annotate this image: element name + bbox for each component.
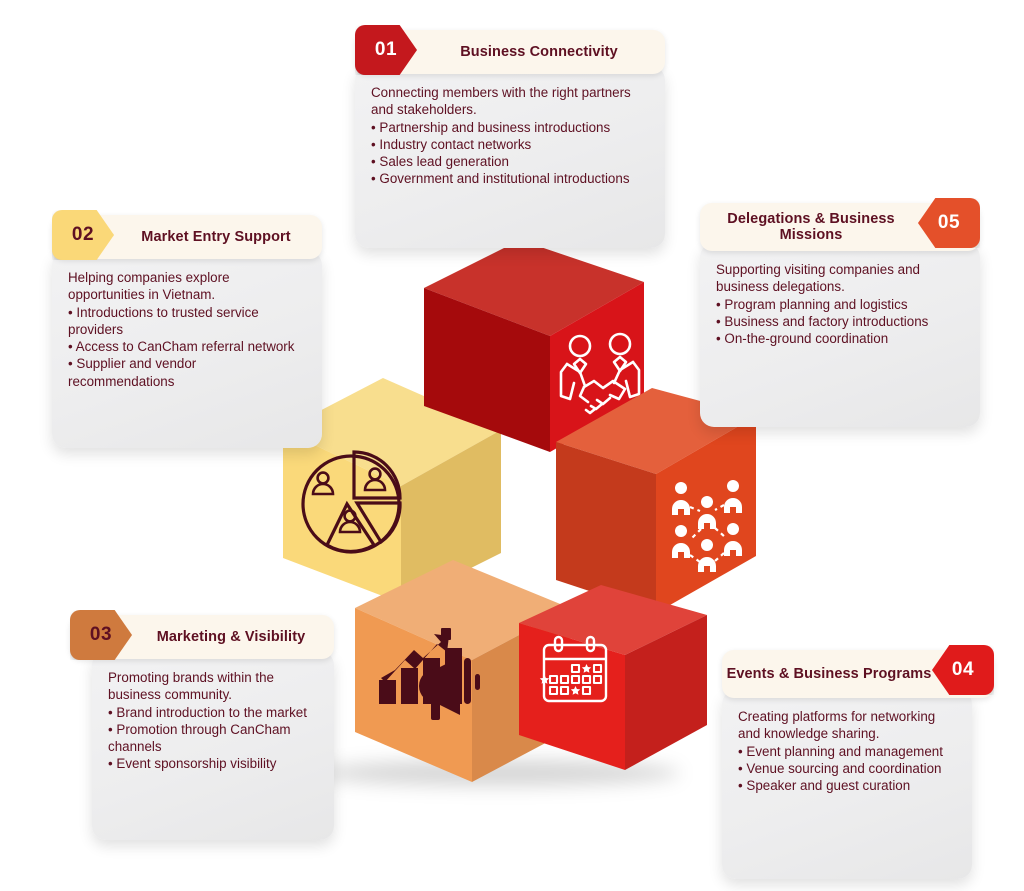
infographic-canvas: 01 Business Connectivity Connecting memb… bbox=[0, 0, 1024, 891]
card-number-badge: 02 bbox=[52, 210, 114, 260]
card-delegations-business-missions[interactable]: Delegations & Business Missions 05 Suppo… bbox=[700, 203, 980, 427]
card-description: Connecting members with the right partne… bbox=[371, 84, 649, 188]
card-header: 03 Marketing & Visibility bbox=[70, 615, 334, 659]
card-body: Promoting brands within the business com… bbox=[92, 651, 334, 840]
card-header: 01 Business Connectivity bbox=[355, 30, 665, 74]
card-number: 04 bbox=[952, 659, 974, 681]
cube-events bbox=[519, 585, 707, 770]
card-business-connectivity[interactable]: 01 Business Connectivity Connecting memb… bbox=[355, 30, 665, 248]
card-number-badge: 01 bbox=[355, 25, 417, 75]
card-body: Supporting visiting companies and busine… bbox=[700, 243, 980, 427]
card-header: Events & Business Programs 04 bbox=[722, 650, 994, 698]
card-number: 05 bbox=[938, 212, 960, 234]
card-body: Creating platforms for networking and kn… bbox=[722, 690, 972, 879]
card-number: 03 bbox=[90, 624, 112, 646]
card-description: Creating platforms for networking and kn… bbox=[738, 708, 956, 794]
card-description: Promoting brands within the business com… bbox=[108, 669, 318, 773]
card-description: Helping companies explore opportunities … bbox=[68, 269, 306, 390]
card-number: 01 bbox=[375, 39, 397, 61]
card-description: Supporting visiting companies and busine… bbox=[716, 261, 964, 347]
card-marketing-visibility[interactable]: 03 Marketing & Visibility Promoting bran… bbox=[70, 615, 334, 840]
card-header: Delegations & Business Missions 05 bbox=[700, 203, 980, 251]
card-number-badge: 04 bbox=[932, 645, 994, 695]
card-body: Connecting members with the right partne… bbox=[355, 66, 665, 248]
card-body: Helping companies explore opportunities … bbox=[52, 251, 322, 448]
card-number: 02 bbox=[72, 224, 94, 246]
card-events-business-programs[interactable]: Events & Business Programs 04 Creating p… bbox=[722, 650, 994, 879]
card-header: 02 Market Entry Support bbox=[52, 215, 322, 259]
card-number-badge: 03 bbox=[70, 610, 132, 660]
card-market-entry-support[interactable]: 02 Market Entry Support Helping companie… bbox=[52, 215, 322, 448]
